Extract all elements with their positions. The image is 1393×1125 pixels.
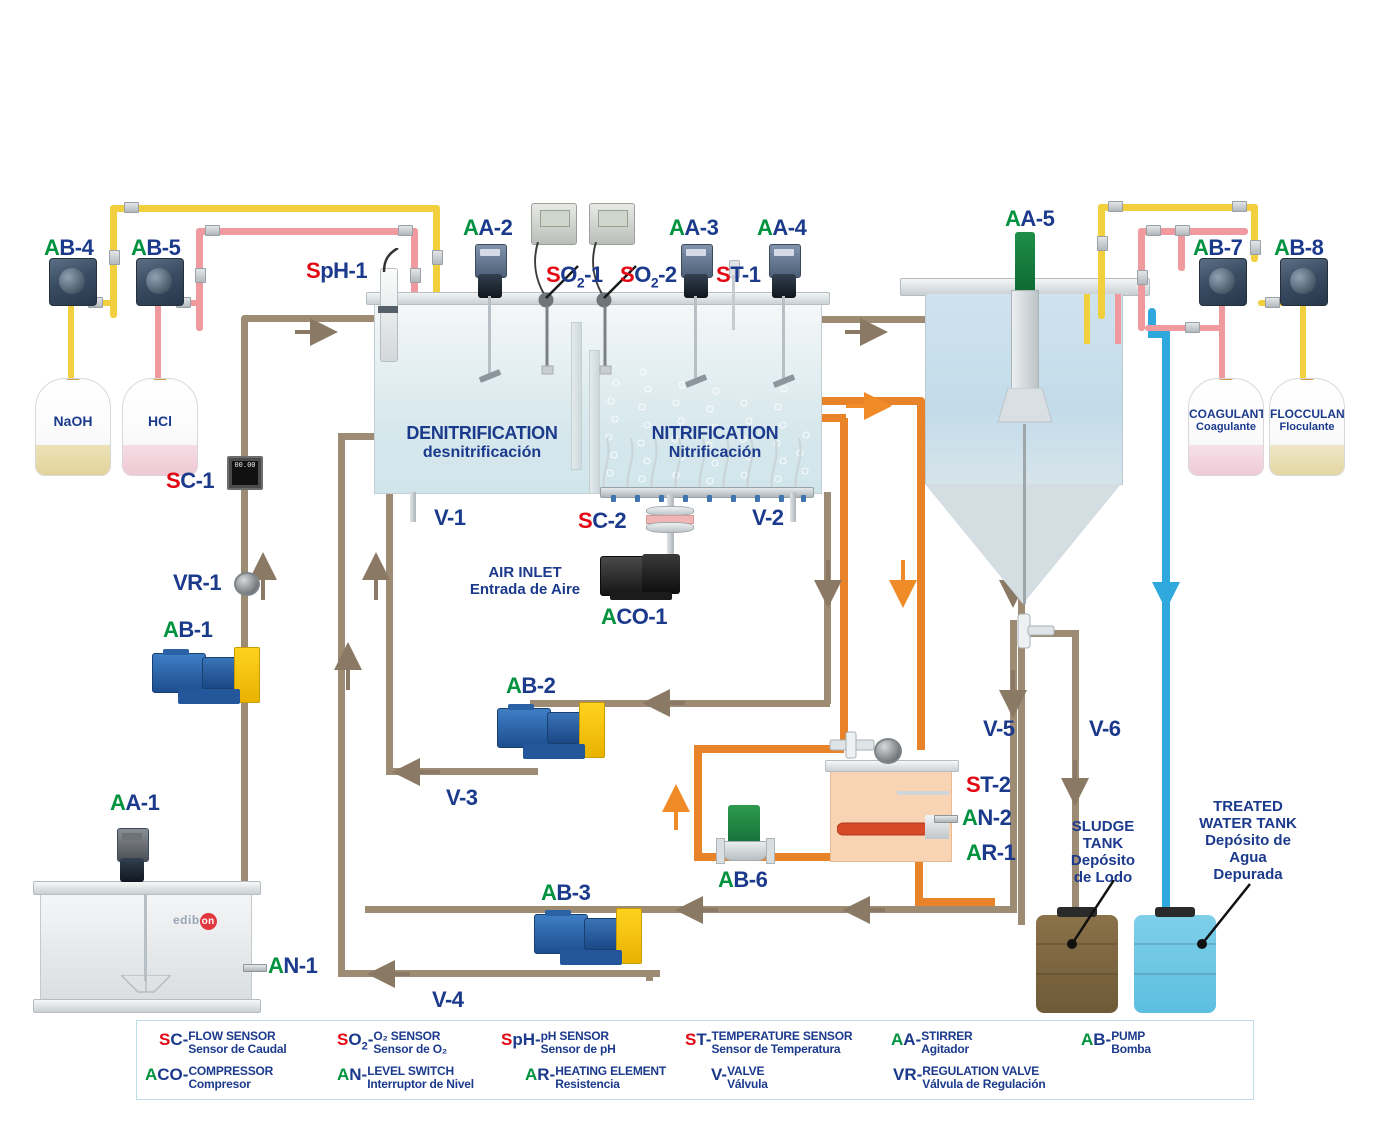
pipe-feed-riser (241, 318, 248, 963)
diffuser-nozzle (779, 495, 784, 502)
treated-water-tank-label: TREATEDWATER TANK Depósito deAgua Depura… (1178, 798, 1318, 883)
tag-sc1: SC-1 (166, 468, 214, 494)
zone-label-denitrification: DENITRIFICATION desnitrificación (382, 423, 582, 462)
valve-v2[interactable] (787, 508, 799, 530)
tag-v4: V-4 (432, 987, 464, 1013)
coagulant-bottle: COAGULANTCoagulante (1188, 378, 1264, 476)
pipe-flocculant-to-bottle (1300, 300, 1306, 390)
legend-item-sph: SpH-pH SENSORSensor de pH (501, 1030, 616, 1055)
pipe-inner-riser (386, 466, 393, 771)
pump-motor (534, 914, 588, 954)
coagulant-label: COAGULANTCoagulante (1189, 407, 1263, 433)
clarifier-deflector (996, 388, 1054, 428)
pump-motor (152, 653, 206, 693)
tag-aa2: AA-2 (463, 215, 512, 241)
legend-item-v: V-VALVEVálvula (711, 1065, 768, 1090)
clarifier-center-column (1011, 290, 1039, 392)
pipe-fitting (1146, 225, 1161, 236)
clarifier-motor-aa5[interactable] (1015, 232, 1035, 290)
ph-sensor-sph1 (380, 268, 396, 360)
pipe-fitting (1185, 322, 1200, 333)
diffuser-nozzle (683, 495, 688, 502)
diffuser-nozzle (801, 495, 806, 502)
bottle-cap (1300, 378, 1314, 380)
legend-item-so2: SO2-O₂ SENSORSensor de O₂ (337, 1030, 447, 1055)
air-inlet-label: AIR INLETEntrada de Aire (455, 564, 595, 598)
tank-top-flange (33, 881, 261, 895)
pipe-reactor-to-clarifier (818, 316, 930, 323)
pipe-orange-loop-left (694, 745, 702, 860)
pipe-orange-mid-riser (840, 418, 848, 748)
pipe-fitting (1265, 297, 1280, 308)
pump-gearbox (547, 712, 583, 744)
tag-vr1: VR-1 (173, 570, 221, 596)
diffuser-nozzle (611, 495, 616, 502)
stirrer-aa2-shaft (488, 296, 491, 378)
pipe-coagulant-to-bottle (1219, 300, 1225, 390)
legend-item-sc: SC-FLOW SENSORSensor de Caudal (159, 1030, 286, 1055)
tag-sc2: SC-2 (578, 508, 626, 534)
compressor-base (610, 592, 672, 600)
stirrer-display (480, 249, 500, 256)
pipe-hcl-to-bottle (155, 300, 161, 390)
tag-sph1: SpH-1 (306, 258, 367, 284)
impeller-icon (121, 975, 171, 995)
pipe-orange-loop-top (694, 745, 844, 753)
stirrer-body (120, 858, 144, 882)
naoh-label: NaOH (36, 413, 110, 429)
bottle-liquid (1189, 445, 1263, 475)
legend-item-ab: AB-PUMPBomba (1081, 1030, 1151, 1055)
diffuser-nozzle (635, 495, 640, 502)
pump-ab1[interactable] (152, 645, 262, 707)
tag-st1: ST-1 (716, 262, 760, 288)
compressor-aco1[interactable] (600, 552, 684, 600)
ph-probe-cable (378, 248, 402, 274)
pipe-fitting (195, 268, 206, 283)
diffuser-nozzle (755, 495, 760, 502)
stirrer-aa3[interactable] (681, 244, 711, 298)
tag-an2: AN-2 (962, 805, 1011, 831)
dosing-pump-ab8[interactable] (1280, 258, 1328, 306)
legend-item-aco: ACO-COMPRESSORCompresor (145, 1065, 273, 1090)
sc1-display: 00.00 (232, 461, 258, 485)
fitting-body (243, 964, 267, 972)
clarifier-shaft (1023, 424, 1026, 604)
hcl-label: HCl (123, 413, 197, 429)
inline-valve-orange (826, 730, 878, 762)
bottle-liquid (1270, 445, 1344, 475)
leader-lines (1050, 880, 1310, 960)
stirrer-body (684, 274, 708, 298)
pipe-naoh-to-bottle (68, 300, 74, 390)
stirrer-aa4[interactable] (769, 244, 799, 298)
heating-element-ar1 (837, 813, 949, 839)
diffuser-nozzle (731, 495, 736, 502)
pump-ab2[interactable] (497, 700, 607, 762)
pump-gearbox (202, 657, 238, 689)
st2-probe (897, 791, 949, 795)
valve-v1[interactable] (407, 508, 419, 530)
pipe-sludge-return-riser (1010, 620, 1017, 910)
bottle-cap (66, 378, 80, 380)
pipe-fitting (398, 225, 413, 236)
pipe-orange-right-riser (917, 400, 925, 750)
bottle-cap (1219, 378, 1233, 380)
tag-v2: V-2 (752, 505, 784, 531)
zone-label-nitrification: NITRIFICATION Nitrificación (620, 423, 810, 462)
pipe-recycle-left-riser (338, 436, 345, 976)
flocculant-bottle: FLOCCULANTFloculante (1269, 378, 1345, 476)
probe-band (378, 306, 398, 313)
pump-base (523, 744, 585, 759)
compressor-head (642, 554, 680, 594)
tag-v5: V-5 (983, 716, 1015, 742)
pressure-gauge (874, 738, 902, 764)
lance-flocculant (1084, 294, 1090, 344)
tag-an1: AN-1 (268, 953, 317, 979)
tag-st2: ST-2 (966, 772, 1010, 798)
tank-rib (1134, 973, 1216, 975)
pump-motor-green (728, 805, 760, 843)
lance-coagulant (1115, 294, 1121, 344)
tag-ar1: AR-1 (966, 840, 1015, 866)
brand-logo: edibon (173, 913, 217, 930)
aeration-manifold (600, 487, 814, 498)
tag-so2-2: SO2-2 (620, 262, 677, 290)
stirrer-display (686, 249, 706, 256)
fitting-body (934, 815, 958, 823)
valve-v3[interactable] (462, 765, 484, 777)
pipe-ab2-riser-right (824, 492, 831, 704)
bottle-liquid (36, 445, 110, 475)
hcl-bottle: HCl (122, 378, 198, 476)
transmitter-display (598, 210, 628, 227)
legend-box: SC-FLOW SENSORSensor de Caudal SO2-O₂ SE… (136, 1020, 1254, 1100)
level-switch-an2-fitting (934, 812, 956, 824)
tag-aco1: ACO-1 (601, 604, 667, 630)
tag-ab1: AB-1 (163, 617, 212, 643)
pump-motor (497, 708, 551, 748)
pump-flange-left (716, 838, 725, 864)
tag-aa3: AA-3 (669, 215, 718, 241)
pipe-fitting (205, 225, 220, 236)
tag-ab7: AB-7 (1193, 235, 1242, 261)
stirrer-body (478, 274, 502, 298)
o2-transmitter-2[interactable] (589, 203, 635, 245)
pipe-orange-drain-h (915, 898, 995, 906)
pipe-fitting (1232, 201, 1247, 212)
dosing-pump-ab4[interactable] (49, 258, 97, 306)
pump-housing (722, 841, 768, 861)
stirrer-aa2[interactable] (475, 244, 505, 298)
valve-v4[interactable] (450, 967, 472, 979)
tag-ab5: AB-5 (131, 235, 180, 261)
pipe-reactor-bottom-stub (824, 492, 831, 510)
legend-item-vr: VR-REGULATION VALVEVálvula de Regulación (893, 1065, 1045, 1090)
dosing-pump-ab7[interactable] (1199, 258, 1247, 306)
pipe-fitting (1137, 270, 1148, 285)
tag-ab2: AB-2 (506, 673, 555, 699)
naoh-bottle: NaOH (35, 378, 111, 476)
sludge-tank-tap[interactable] (1112, 984, 1132, 1000)
pump-ab6[interactable] (718, 805, 770, 861)
pipe-naoh-horizontal (110, 205, 440, 212)
dosing-pump-ab5[interactable] (136, 258, 184, 306)
probe-body (380, 268, 398, 362)
pipe-flocculant-down-left (1098, 207, 1105, 319)
tag-ab4: AB-4 (44, 235, 93, 261)
pipe-hcl-horizontal (196, 228, 418, 235)
feed-tank-drain-tap[interactable] (252, 988, 272, 1004)
pipe-sludge-return-bottom (365, 906, 1017, 913)
pump-flange-right (766, 838, 775, 864)
pump-ab3[interactable] (534, 906, 644, 968)
pipe-fitting (1250, 240, 1261, 255)
tag-v3: V-3 (446, 785, 478, 811)
treated-water-tank-tap[interactable] (1210, 984, 1230, 1000)
pipe-fitting (124, 202, 139, 213)
pipe-fitting (1097, 236, 1108, 251)
stirrer-aa3-shaft (694, 296, 697, 384)
stirrer-body (772, 274, 796, 298)
process-flow-diagram: NaOH HCl AB-4 AB-5 00.00 SC-1 VR-1 AB-1 (0, 0, 1393, 1125)
pipe-fitting (109, 250, 120, 265)
level-switch-an1 (243, 961, 265, 973)
tag-so2-1: SO2-1 (546, 262, 603, 290)
sludge-tank-label: SLUDGETANK Depósitode Lodo (1048, 818, 1158, 886)
tag-v6: V-6 (1089, 716, 1121, 742)
stirrer-display (774, 249, 794, 256)
pipe-fitting (410, 268, 421, 283)
pipe-coagulant-down-right (1178, 231, 1185, 271)
tag-aa1: AA-1 (110, 790, 159, 816)
sensor-disc (646, 522, 694, 533)
legend-item-aa: AA-STIRRERAgitador (891, 1030, 973, 1055)
pipe-recycle-bottom (338, 970, 660, 977)
compressor-motor (600, 556, 646, 596)
transmitter-display (540, 210, 570, 227)
pump-base (178, 689, 240, 704)
pipe-treated-water-riser (1162, 330, 1170, 915)
valve-v5[interactable] (1014, 712, 1026, 734)
flocculant-label: FLOCCULANTFloculante (1270, 407, 1344, 433)
stirrer-shaft (144, 895, 147, 981)
valve-heat-drain[interactable] (958, 894, 980, 906)
valve-v6[interactable] (1068, 712, 1080, 734)
flow-meter-sc1: 00.00 (227, 456, 263, 490)
pipe-fitting (1175, 225, 1190, 236)
pipe-fitting (432, 250, 443, 265)
tag-ab3: AB-3 (541, 880, 590, 906)
pipe-fitting (1108, 201, 1123, 212)
tag-aa5: AA-5 (1005, 206, 1054, 232)
stirrer-display (122, 833, 142, 840)
tag-aa4: AA-4 (757, 215, 806, 241)
tank-rib (1036, 973, 1118, 975)
tag-ab8: AB-8 (1274, 235, 1323, 261)
inline-valve-underflow (1008, 612, 1062, 652)
flow-sensor-sc2 (646, 506, 692, 532)
legend-item-ar: AR-HEATING ELEMENTResistencia (525, 1065, 666, 1090)
o2-transmitter-1[interactable] (531, 203, 577, 245)
tag-v1: V-1 (434, 505, 466, 531)
feed-tank: edibon (40, 890, 252, 1004)
pipe-ab3-suction (646, 973, 653, 981)
pipe-feed-top (241, 315, 391, 322)
stirrer-aa1[interactable] (117, 828, 147, 882)
bottle-cap (153, 378, 167, 380)
regulation-valve-vr1[interactable] (234, 572, 260, 596)
pump-gearbox (584, 918, 620, 950)
diffuser-nozzle (707, 495, 712, 502)
legend-item-st: ST-TEMPERATURE SENSORSensor de Temperatu… (685, 1030, 852, 1055)
pump-base (560, 950, 622, 965)
tag-ab6: AB-6 (718, 867, 767, 893)
legend-item-an: AN-LEVEL SWITCHInterruptor de Nivel (337, 1065, 474, 1090)
stirrer-aa4-shaft (782, 296, 785, 384)
tank-bottom-flange (33, 999, 261, 1013)
diffuser-nozzle (659, 495, 664, 502)
